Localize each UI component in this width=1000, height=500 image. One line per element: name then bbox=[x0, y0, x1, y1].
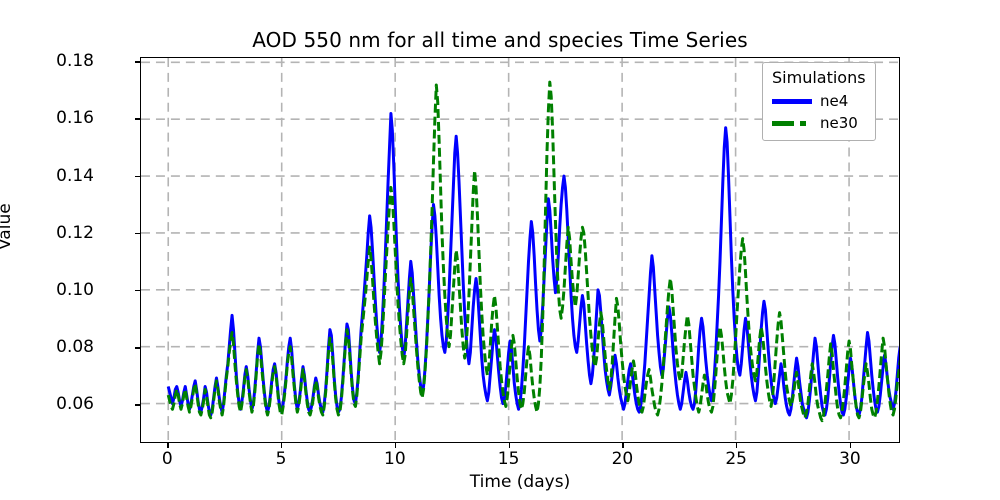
x-axis-label: Time (days) bbox=[140, 472, 900, 492]
x-tick-mark bbox=[736, 443, 737, 448]
legend-title: Simulations bbox=[772, 68, 866, 87]
x-tick-mark bbox=[281, 443, 282, 448]
x-tick-mark bbox=[509, 443, 510, 448]
legend[interactable]: Simulations ne4ne30 bbox=[762, 62, 876, 141]
legend-item-ne30[interactable]: ne30 bbox=[772, 112, 866, 134]
y-tick-label: 0.18 bbox=[56, 51, 94, 71]
x-tick-label: 5 bbox=[276, 449, 287, 469]
x-tick-mark bbox=[850, 443, 851, 448]
figure-canvas: AOD 550 nm for all time and species Time… bbox=[0, 0, 1000, 500]
y-tick-label: 0.10 bbox=[56, 280, 94, 300]
x-tick-label: 10 bbox=[384, 449, 406, 469]
x-tick-label: 25 bbox=[725, 449, 747, 469]
x-tick-label: 20 bbox=[612, 449, 634, 469]
y-tick-label: 0.08 bbox=[56, 337, 94, 357]
x-tick-mark bbox=[622, 443, 623, 448]
y-tick-label: 0.12 bbox=[56, 223, 94, 243]
legend-swatch-ne30 bbox=[772, 121, 812, 126]
y-tick-label: 0.06 bbox=[56, 394, 94, 414]
legend-entries: ne4ne30 bbox=[772, 90, 866, 134]
y-tick-label: 0.14 bbox=[56, 166, 94, 186]
legend-label-ne4: ne4 bbox=[820, 92, 848, 110]
x-tick-label: 15 bbox=[498, 449, 520, 469]
y-axis-label: Value bbox=[0, 203, 15, 250]
x-tick-label: 0 bbox=[162, 449, 173, 469]
y-tick-label: 0.16 bbox=[56, 108, 94, 128]
x-tick-mark bbox=[395, 443, 396, 448]
legend-item-ne4[interactable]: ne4 bbox=[772, 90, 866, 112]
legend-swatch-ne4 bbox=[772, 99, 812, 104]
x-tick-mark bbox=[167, 443, 168, 448]
page-title: AOD 550 nm for all time and species Time… bbox=[0, 28, 1000, 52]
legend-label-ne30: ne30 bbox=[820, 114, 858, 132]
x-tick-label: 30 bbox=[839, 449, 861, 469]
